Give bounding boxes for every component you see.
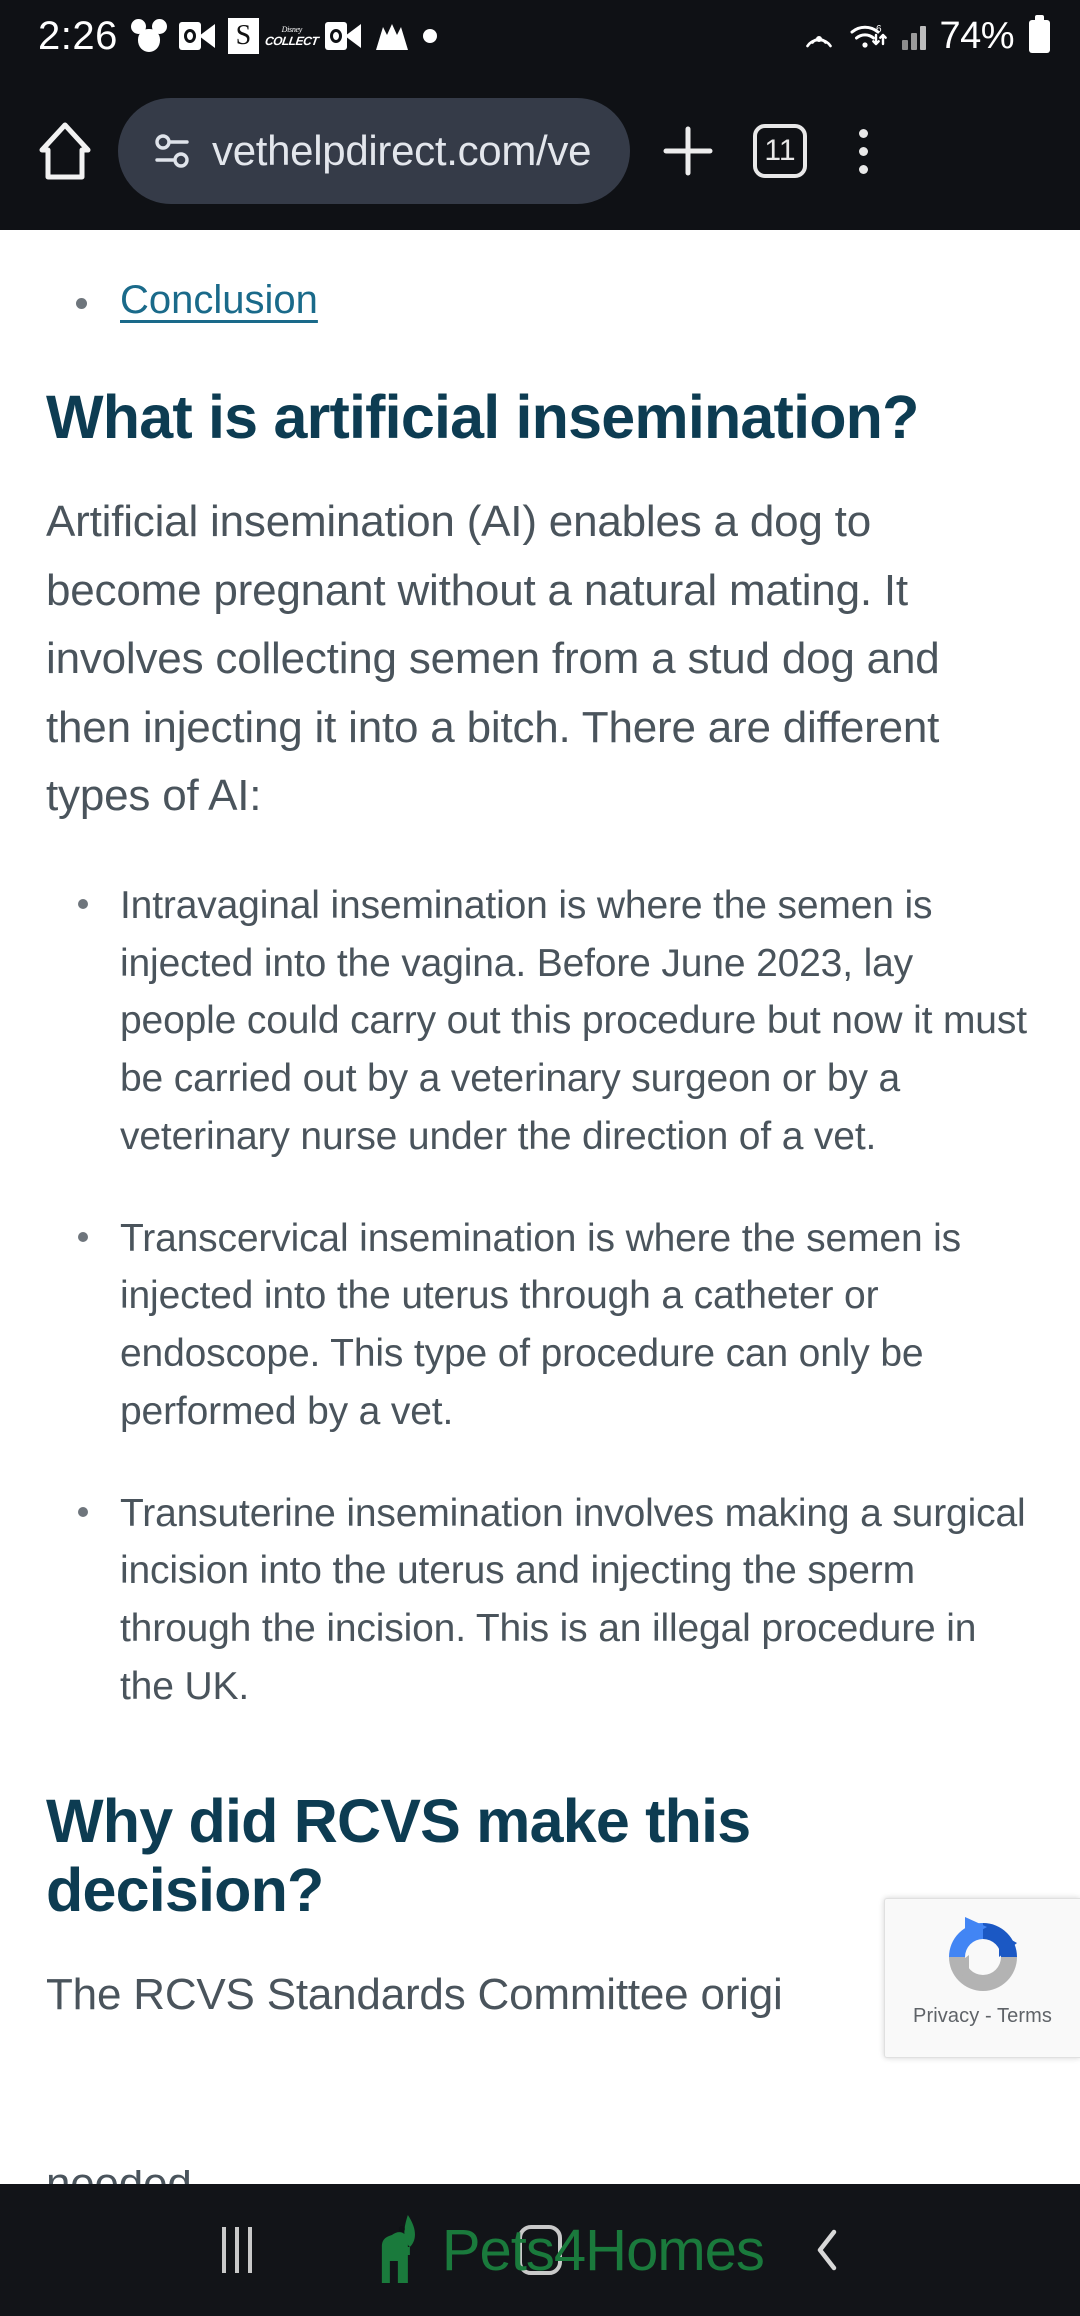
home-icon: [37, 120, 93, 182]
url-bar[interactable]: vethelpdirect.com/ve: [118, 98, 630, 204]
recents-icon: [222, 2227, 226, 2273]
browser-menu-button[interactable]: [826, 105, 900, 197]
toc-link-conclusion[interactable]: Conclusion: [120, 278, 318, 322]
table-of-contents: Conclusion: [46, 278, 1034, 323]
status-clock: 2:26: [38, 14, 118, 59]
pets4homes-wordmark: Pets4Homes: [442, 2217, 764, 2284]
tab-switcher-button[interactable]: 11: [734, 105, 826, 197]
home-button-nav[interactable]: [518, 2225, 562, 2275]
list-item: Intravaginal insemination is where the s…: [68, 877, 1034, 1166]
mountain-app-icon: [374, 21, 410, 51]
cast-icon: [802, 19, 836, 53]
intro-paragraph: Artificial insemination (AI) enables a d…: [46, 488, 1034, 831]
tab-count-badge: 11: [753, 124, 807, 178]
list-item: Conclusion: [68, 278, 1034, 323]
android-nav-bar: Pets4Homes: [0, 2184, 1080, 2316]
ai-types-list: Intravaginal insemination is where the s…: [46, 877, 1034, 1715]
mickey-mouse-icon: [132, 19, 166, 53]
outlook-icon: [325, 22, 361, 50]
recents-button[interactable]: [222, 2227, 252, 2273]
pets4homes-leaf-icon: [378, 2213, 436, 2287]
notification-icons: S DisneyCOLLECT: [132, 18, 437, 54]
phone-screen: 2:26 S DisneyCOLLECT: [0, 0, 1080, 2316]
url-text[interactable]: vethelpdirect.com/ve: [212, 127, 591, 175]
list-item: Transcervical insemination is where the …: [68, 1210, 1034, 1441]
section-heading-ai: What is artificial insemination?: [46, 383, 1034, 452]
outlook-icon: [179, 22, 215, 50]
home-button[interactable]: [22, 108, 108, 194]
recaptcha-privacy-terms[interactable]: Privacy - Terms: [913, 2005, 1052, 2028]
back-chevron-icon: [808, 2227, 848, 2273]
recaptcha-badge[interactable]: Privacy - Terms: [884, 1898, 1080, 2058]
clipped-text-line: agreed, back in 2017, that new restricti…: [46, 2170, 1034, 2184]
tune-sliders-icon[interactable]: [150, 129, 194, 173]
plus-icon: [660, 123, 716, 179]
pets4homes-watermark: Pets4Homes: [378, 2213, 764, 2287]
new-tab-button[interactable]: [642, 105, 734, 197]
cellular-signal-icon: [902, 22, 926, 50]
battery-icon: [1029, 20, 1050, 53]
three-dots-menu-icon: [859, 147, 868, 156]
list-item: Transuterine insemination involves makin…: [68, 1485, 1034, 1716]
browser-toolbar: vethelpdirect.com/ve 11: [0, 72, 1080, 230]
disney-collect-icon: DisneyCOLLECT: [272, 21, 312, 51]
webpage-content: Conclusion What is artificial inseminati…: [0, 230, 1080, 2184]
s-app-icon: S: [228, 18, 259, 54]
wifi-6-icon: 6: [849, 19, 889, 53]
battery-percent-label: 74%: [939, 15, 1014, 58]
svg-text:6: 6: [876, 24, 882, 35]
back-button[interactable]: [808, 2227, 848, 2273]
three-dots-menu-icon: [859, 129, 868, 138]
three-dots-menu-icon: [859, 165, 868, 174]
recents-icon: [235, 2227, 239, 2273]
recaptcha-logo-icon: [939, 1913, 1027, 2001]
status-bar: 2:26 S DisneyCOLLECT: [0, 0, 1080, 72]
status-bar-left: 2:26 S DisneyCOLLECT: [38, 14, 437, 59]
status-bar-right: 6 74%: [802, 15, 1050, 58]
dot-icon: [423, 29, 437, 43]
recents-icon: [248, 2227, 252, 2273]
